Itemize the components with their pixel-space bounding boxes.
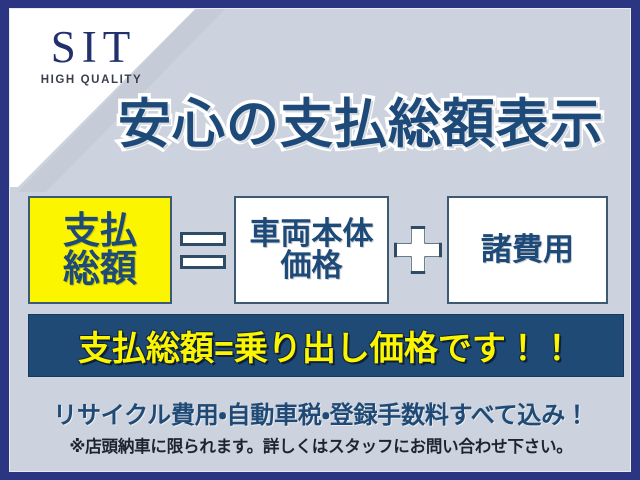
brand-logo: SIT HIGH QUALITY: [23, 25, 158, 87]
plus-icon-shape: [397, 229, 439, 271]
brand-logo-mark: SIT: [23, 25, 158, 70]
formula-vehicle-box: 車両本体 価格: [234, 196, 389, 304]
equals-icon-bar-top: [180, 232, 226, 246]
banner-inner-panel: SIT HIGH QUALITY 安心の支払総額表示 支払 総額 車両本体 価格: [9, 8, 631, 472]
formula-fees-line1: 諸費用: [481, 234, 574, 266]
page-title: 安心の支払総額表示: [118, 97, 630, 153]
formula-vehicle-line2: 価格: [281, 250, 343, 282]
plus-icon: [389, 196, 447, 304]
formula-fees-box: 諸費用: [447, 196, 608, 304]
equals-icon: [172, 196, 234, 304]
formula-total-line2: 総額: [63, 250, 137, 288]
formula-total-line1: 支払: [63, 212, 137, 250]
footer-inclusions: リサイクル費用・自動車税・登録手数料すべて込み！: [10, 395, 631, 430]
formula-total-box: 支払 総額: [28, 196, 172, 304]
brand-logo-tagline: HIGH QUALITY: [23, 75, 158, 87]
highlight-strip: 支払総額=乗り出し価格です！！: [28, 314, 624, 377]
equals-icon-bar-bottom: [180, 255, 226, 269]
formula-vehicle-line1: 車両本体: [250, 218, 374, 250]
highlight-strip-text: 支払総額=乗り出し価格です！！: [78, 321, 574, 370]
payment-total-banner: SIT HIGH QUALITY 安心の支払総額表示 支払 総額 車両本体 価格: [0, 0, 640, 480]
price-formula: 支払 総額 車両本体 価格 諸費用: [28, 195, 624, 305]
footer-disclaimer: ※店頭納車に限られます。詳しくはスタッフにお問い合わせ下さい。: [10, 433, 631, 457]
